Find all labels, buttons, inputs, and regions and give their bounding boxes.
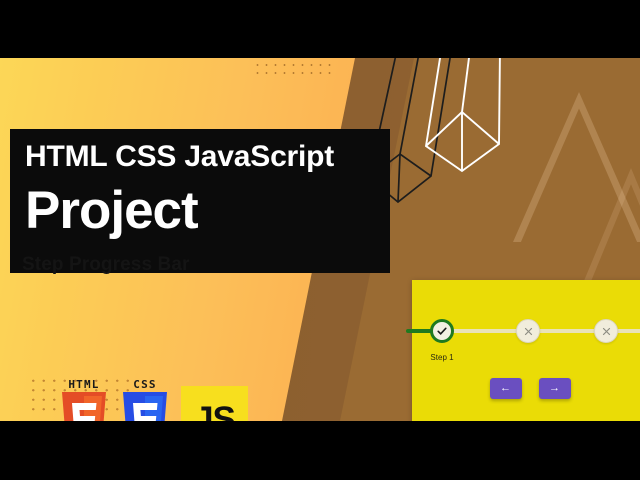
dot-pattern-top xyxy=(253,61,335,75)
js-logo: JS xyxy=(181,386,248,421)
subtitle: Step Progress Bar xyxy=(22,254,190,276)
step-progress-bar: Step 1 xyxy=(406,315,640,347)
html5-logo-block: HTML xyxy=(59,378,109,421)
step-node-2[interactable] xyxy=(516,319,540,343)
thumbnail-canvas: HTML CSS JavaScript Project Step Progres… xyxy=(0,0,640,480)
css3-logo-caption: CSS xyxy=(120,378,170,391)
step-node-1[interactable]: Step 1 xyxy=(430,319,454,343)
js-logo-block: JS xyxy=(181,386,248,421)
page-title-secondary: Project xyxy=(25,178,390,244)
step-nav-buttons: ← → xyxy=(412,378,640,399)
prev-button[interactable]: ← xyxy=(490,378,522,399)
step-node-1-label: Step 1 xyxy=(430,353,453,362)
css3-logo-block: CSS xyxy=(120,378,170,421)
white-prism-icon xyxy=(426,58,500,171)
html5-logo-caption: HTML xyxy=(59,378,109,391)
next-button[interactable]: → xyxy=(539,378,571,399)
title-card: HTML CSS JavaScript Project xyxy=(10,129,390,273)
step-node-3[interactable] xyxy=(594,319,618,343)
close-icon xyxy=(601,326,612,337)
check-icon xyxy=(436,325,448,337)
html5-logo xyxy=(59,392,109,421)
page-title-primary: HTML CSS JavaScript xyxy=(25,138,390,176)
step-progress-demo-card: Step 1 ← → xyxy=(412,280,640,421)
css3-logo xyxy=(120,392,170,421)
close-icon xyxy=(523,326,534,337)
content-band: HTML CSS JavaScript Project Step Progres… xyxy=(0,58,640,421)
tech-logo-row: HTML CSS JS xyxy=(59,378,248,421)
